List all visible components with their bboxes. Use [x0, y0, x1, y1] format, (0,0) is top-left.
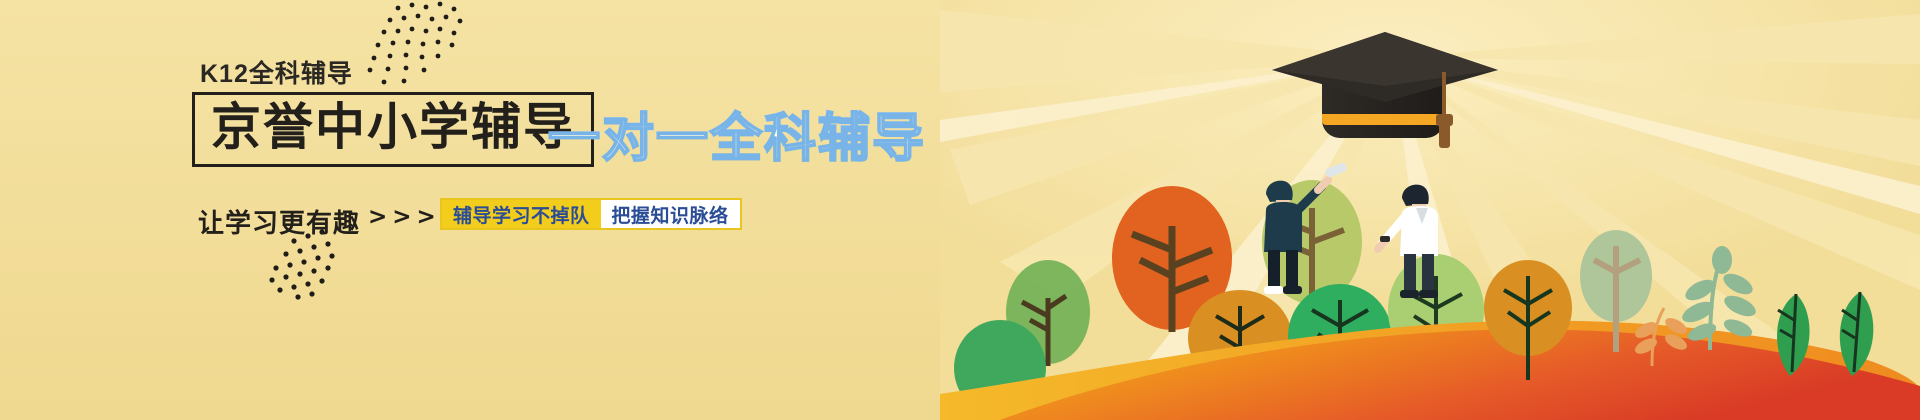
cap-band [1322, 114, 1444, 125]
page-title: 京誉中小学辅导 [211, 101, 575, 154]
promo-banner: K12全科辅导 京誉中小学辅导 一对一全科辅导 让学习更有趣 >>>> 辅导学习… [0, 0, 1920, 420]
feature-pill-1: 辅导学习不掉队 [442, 200, 601, 228]
student-standing [1378, 185, 1438, 298]
text-block: K12全科辅导 京誉中小学辅导 一对一全科辅导 让学习更有趣 >>>> 辅导学习… [0, 0, 940, 420]
student-figures [1230, 150, 1490, 300]
subtitle-text: 一对一全科辅导 [548, 96, 926, 171]
title-box: 京誉中小学辅导 [192, 92, 594, 167]
cap-tassel-tail [1439, 124, 1450, 148]
graduation-cap-icon [1270, 22, 1500, 142]
cap-board [1270, 30, 1500, 104]
cap-tassel-cord [1442, 72, 1446, 118]
kicker-text: K12全科辅导 [200, 54, 353, 90]
dot-cluster-top-icon [360, 0, 480, 90]
illustration-stage [940, 0, 1920, 420]
dot-cluster-bottom-icon [248, 224, 343, 304]
student-raising-arm [1264, 162, 1348, 294]
feature-pills: 辅导学习不掉队 把握知识脉络 [440, 198, 742, 230]
feature-pill-2: 把握知识脉络 [601, 200, 740, 228]
